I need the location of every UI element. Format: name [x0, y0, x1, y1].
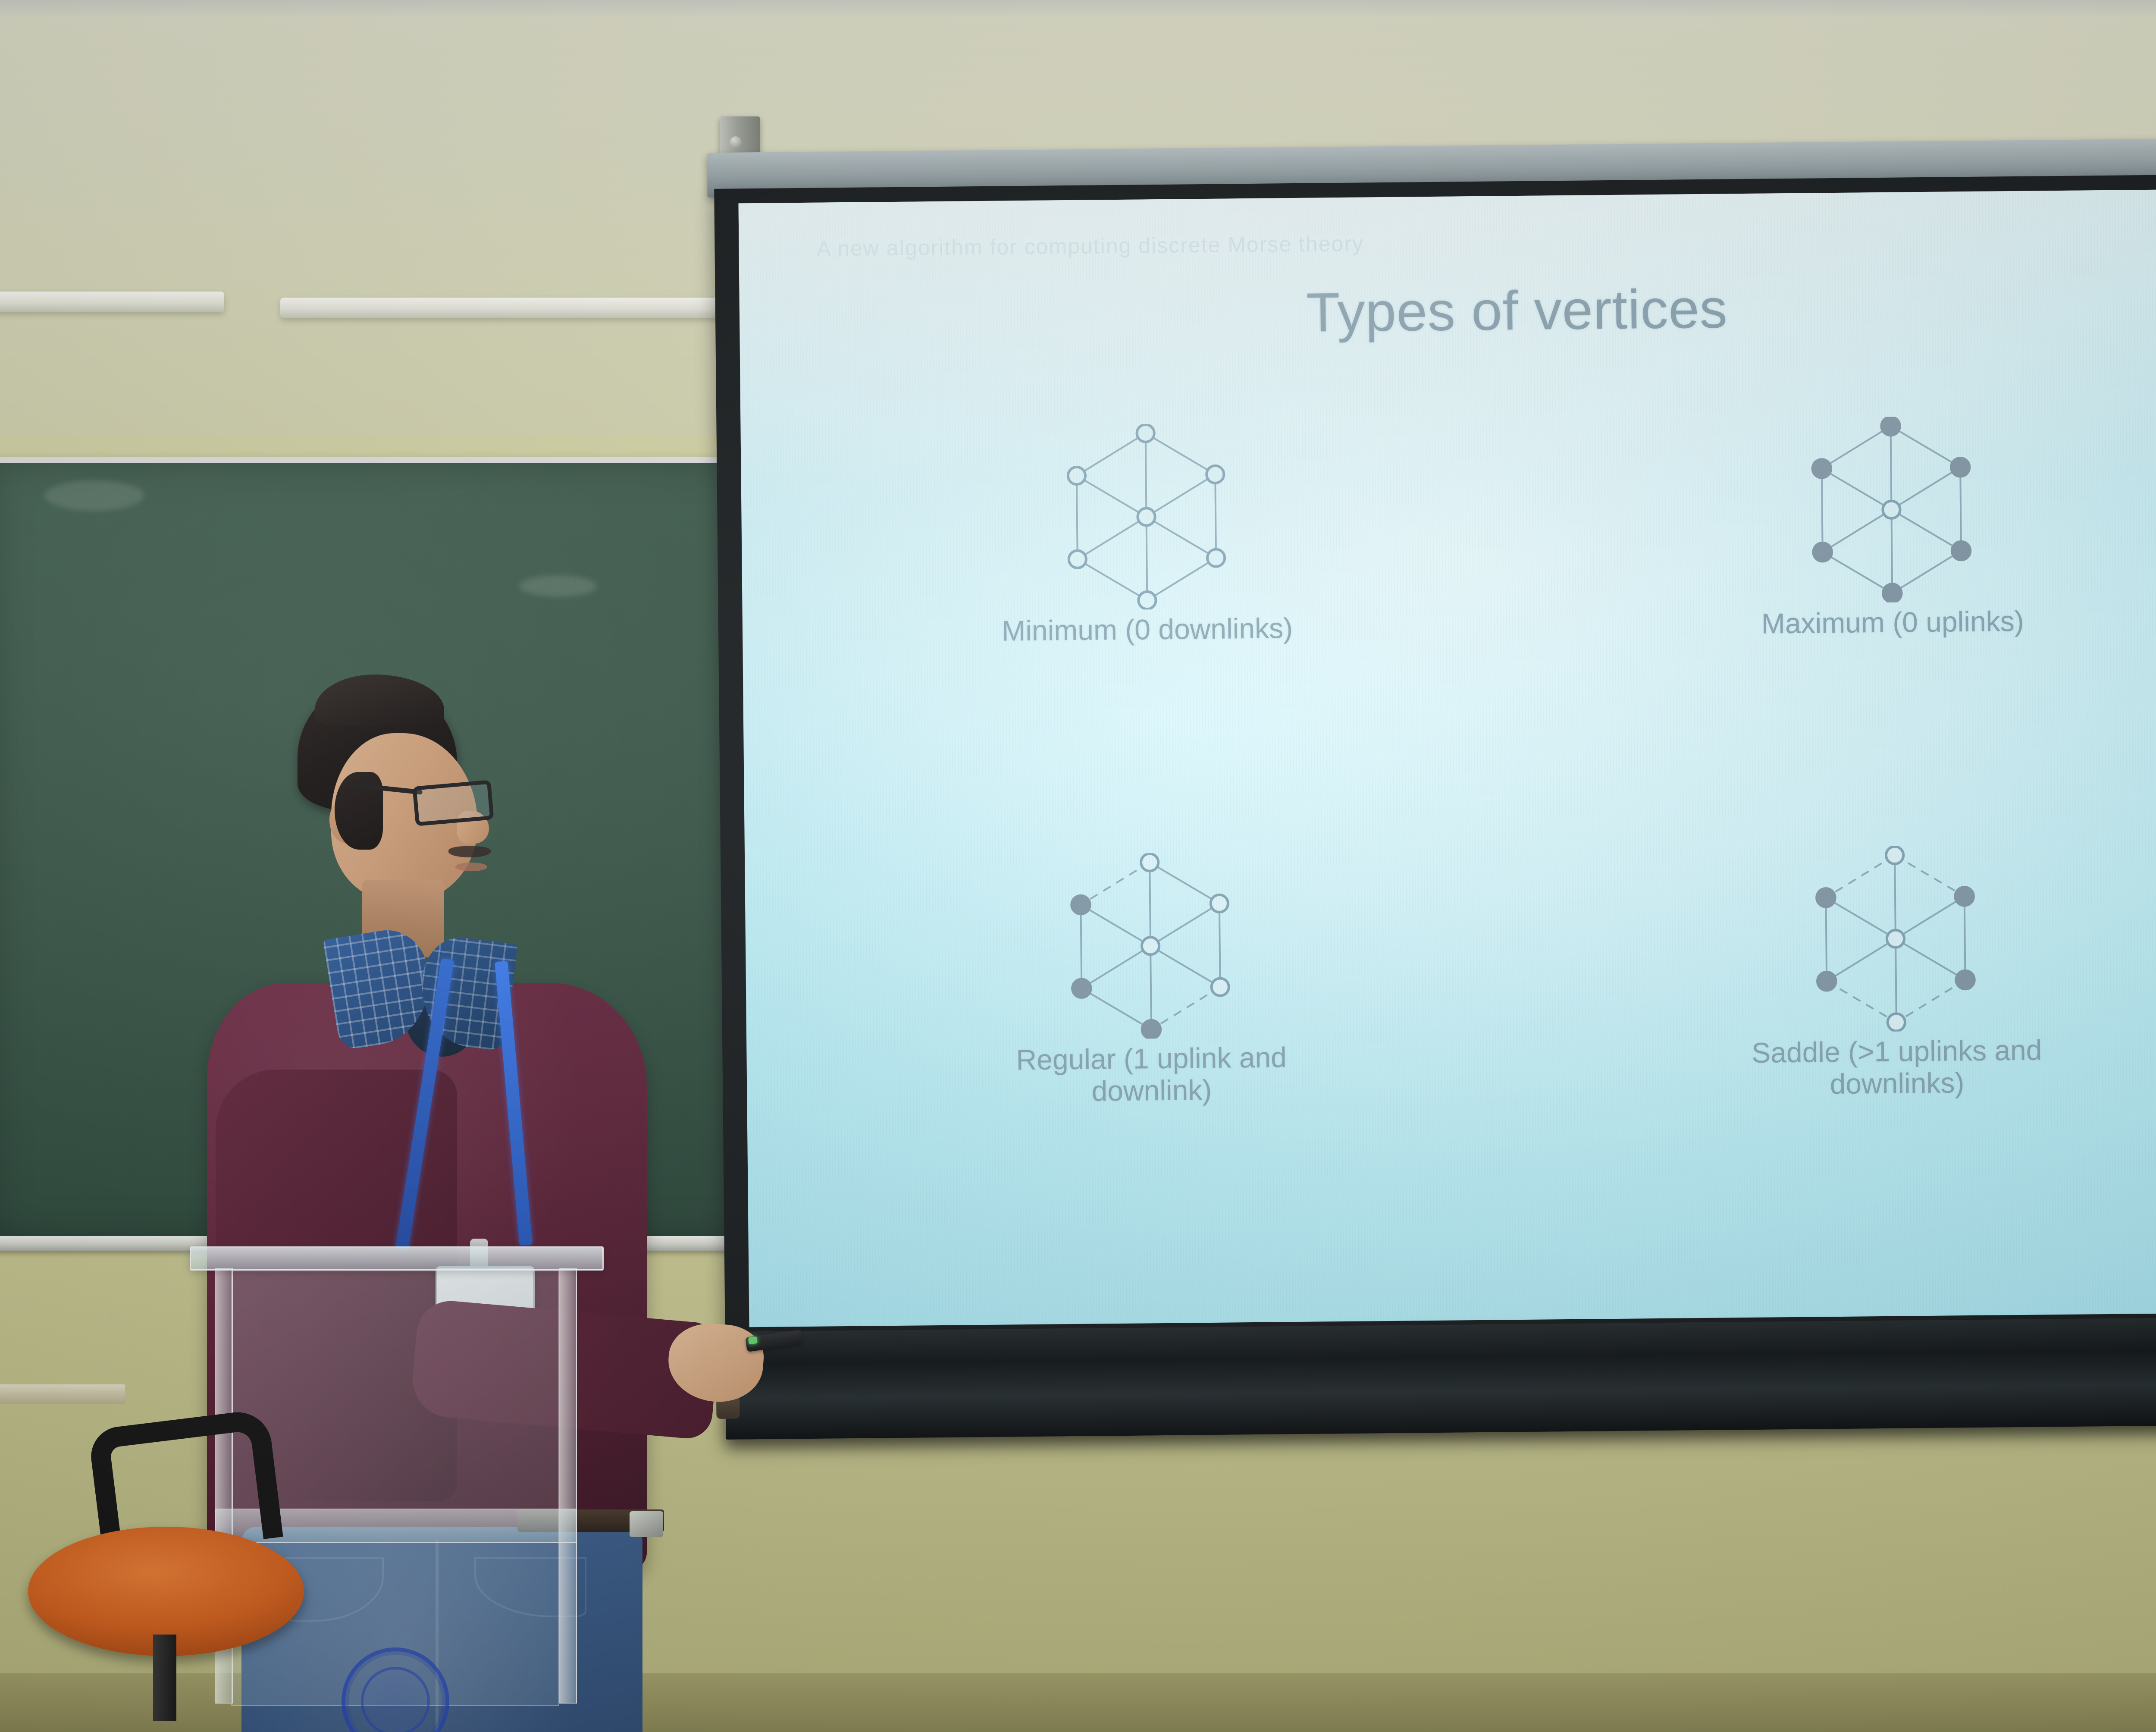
node-bottom: [1888, 1014, 1905, 1032]
slide-title: Types of vertices: [739, 272, 2156, 350]
node-lower-right: [1955, 970, 1975, 990]
figure-regular: [1057, 853, 1244, 1040]
panel-maximum: Maximum (0 uplinks): [1532, 414, 2156, 845]
node-center: [1883, 501, 1900, 519]
mustache: [448, 846, 491, 857]
node-lower-right: [1207, 549, 1225, 567]
figure-maximum: [1798, 416, 1985, 603]
clicker-led-icon: [748, 1337, 758, 1345]
ceiling-strip: [0, 0, 2156, 17]
node-center: [1141, 937, 1159, 955]
vertex-type-panel-grid: Minimum (0 downlinks): [787, 414, 2156, 1282]
belt-buckle: [630, 1511, 663, 1537]
figure-minimum: [1053, 423, 1240, 610]
lectern-side-right: [559, 1268, 577, 1704]
node-upper-right: [1955, 887, 1974, 906]
hair-tuft: [315, 675, 444, 726]
node-bottom: [1138, 592, 1156, 609]
hex-graph-maximum: [1798, 416, 1985, 603]
node-lower-right: [1211, 979, 1229, 996]
node-bottom: [1883, 584, 1902, 603]
projection-screen: A new algorithm for computing discrete M…: [714, 173, 2156, 1440]
caption-maximum: Maximum (0 uplinks): [1761, 606, 2024, 640]
panel-saddle: Saddle (>1 uplinks and downlinks): [1537, 843, 2156, 1274]
node-upper-left: [1812, 459, 1832, 478]
node-bottom: [1141, 1020, 1161, 1039]
node-top: [1141, 854, 1159, 872]
panel-minimum: Minimum (0 downlinks): [787, 421, 1507, 853]
node-lower-left: [1817, 972, 1836, 991]
node-lower-left: [1072, 979, 1091, 998]
node-center: [1138, 508, 1155, 526]
node-top: [1886, 847, 1904, 864]
caption-saddle: Saddle (>1 uplinks and downlinks): [1741, 1035, 2052, 1101]
hex-graph-minimum: [1053, 423, 1240, 610]
node-upper-left: [1816, 888, 1836, 907]
node-upper-right: [1206, 466, 1224, 483]
projector-screen-assembly: A new algorithm for computing discrete M…: [694, 116, 2156, 1436]
glasses-lens: [412, 780, 494, 826]
node-lower-right: [1952, 541, 1971, 561]
chair-post: [153, 1635, 176, 1721]
light-tube: [0, 292, 224, 312]
hex-graph-saddle: [1802, 845, 1989, 1032]
node-top: [1137, 425, 1154, 442]
presentation-slide: A new algorithm for computing discrete M…: [738, 188, 2156, 1327]
office-chair[interactable]: [24, 1419, 326, 1732]
node-upper-left: [1071, 895, 1090, 915]
caption-regular: Regular (1 uplink and downlink): [996, 1042, 1307, 1108]
side-table: [0, 1384, 125, 1404]
slide-header-faint-text: A new algorithm for computing discrete M…: [817, 223, 2156, 273]
caption-minimum: Minimum (0 downlinks): [1002, 612, 1293, 647]
screen-weight-bar[interactable]: [725, 1316, 2156, 1440]
lecture-room: A new algorithm for computing discrete M…: [0, 0, 2156, 1732]
node-center: [1887, 930, 1905, 948]
node-top: [1881, 417, 1900, 436]
node-lower-left: [1069, 551, 1086, 568]
lip: [455, 863, 487, 871]
node-upper-right: [1210, 895, 1228, 913]
node-upper-right: [1951, 458, 1970, 477]
lectern-top-surface: [190, 1246, 604, 1271]
node-upper-left: [1068, 467, 1085, 485]
slide-surface[interactable]: A new algorithm for computing discrete M…: [738, 188, 2156, 1327]
hex-graph-regular: [1057, 853, 1244, 1040]
panel-regular: Regular (1 uplink and downlink): [791, 850, 1511, 1282]
node-lower-left: [1813, 543, 1832, 562]
figure-saddle: [1802, 845, 1989, 1032]
